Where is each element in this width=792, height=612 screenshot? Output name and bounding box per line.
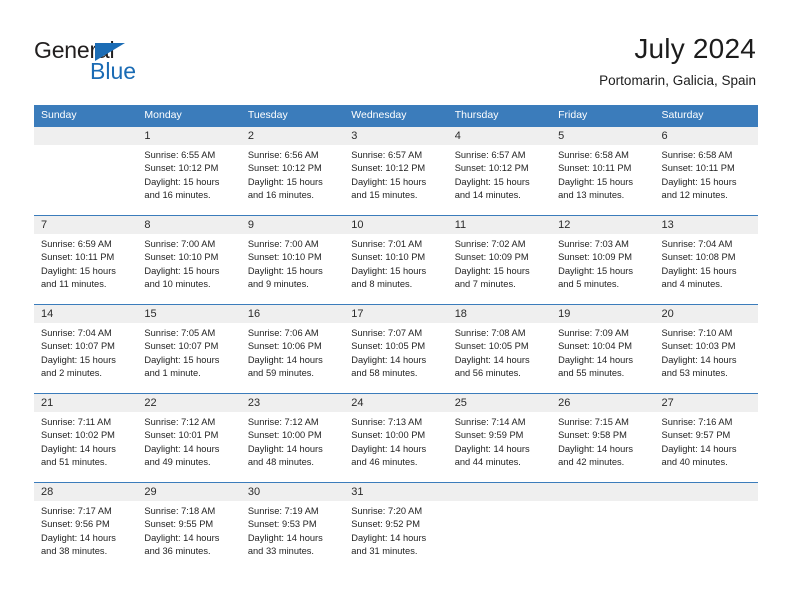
day-sunset: Sunset: 9:53 PM bbox=[248, 518, 339, 531]
page-header: General Blue July 2024 Portomarin, Galic… bbox=[0, 0, 792, 100]
day-daylight-line2: and 38 minutes. bbox=[41, 545, 132, 558]
day-number: 5 bbox=[551, 127, 654, 145]
day-sunrise: Sunrise: 7:12 AM bbox=[144, 416, 235, 429]
calendar-week-row: 21Sunrise: 7:11 AMSunset: 10:02 PMDaylig… bbox=[34, 394, 758, 483]
calendar-body: 1Sunrise: 6:55 AMSunset: 10:12 PMDayligh… bbox=[34, 127, 758, 572]
day-daylight-line1: Daylight: 15 hours bbox=[41, 354, 132, 367]
day-number: 12 bbox=[551, 216, 654, 234]
calendar-day-cell[interactable]: 21Sunrise: 7:11 AMSunset: 10:02 PMDaylig… bbox=[34, 394, 137, 483]
calendar-day-cell[interactable]: 23Sunrise: 7:12 AMSunset: 10:00 PMDaylig… bbox=[241, 394, 344, 483]
day-sunrise: Sunrise: 6:59 AM bbox=[41, 238, 132, 251]
day-number: 10 bbox=[344, 216, 447, 234]
day-daylight-line2: and 55 minutes. bbox=[558, 367, 649, 380]
day-number: 29 bbox=[137, 483, 240, 501]
day-sunrise: Sunrise: 6:58 AM bbox=[662, 149, 753, 162]
day-number: 4 bbox=[448, 127, 551, 145]
day-daylight-line1: Daylight: 14 hours bbox=[144, 443, 235, 456]
day-details: Sunrise: 6:58 AMSunset: 10:11 PMDaylight… bbox=[551, 145, 654, 202]
day-sunset: Sunset: 10:00 PM bbox=[351, 429, 442, 442]
day-details: Sunrise: 6:57 AMSunset: 10:12 PMDaylight… bbox=[448, 145, 551, 202]
day-details: Sunrise: 7:12 AMSunset: 10:01 PMDaylight… bbox=[137, 412, 240, 469]
day-sunrise: Sunrise: 6:55 AM bbox=[144, 149, 235, 162]
day-daylight-line2: and 14 minutes. bbox=[455, 189, 546, 202]
day-details: Sunrise: 7:14 AMSunset: 9:59 PMDaylight:… bbox=[448, 412, 551, 469]
day-details: Sunrise: 7:13 AMSunset: 10:00 PMDaylight… bbox=[344, 412, 447, 469]
day-sunset: Sunset: 10:05 PM bbox=[455, 340, 546, 353]
day-daylight-line2: and 13 minutes. bbox=[558, 189, 649, 202]
day-number: 21 bbox=[34, 394, 137, 412]
day-details: Sunrise: 7:15 AMSunset: 9:58 PMDaylight:… bbox=[551, 412, 654, 469]
day-number: 30 bbox=[241, 483, 344, 501]
calendar-day-cell[interactable]: 31Sunrise: 7:20 AMSunset: 9:52 PMDayligh… bbox=[344, 483, 447, 572]
day-daylight-line1: Daylight: 15 hours bbox=[558, 176, 649, 189]
day-sunrise: Sunrise: 7:08 AM bbox=[455, 327, 546, 340]
day-sunset: Sunset: 10:09 PM bbox=[558, 251, 649, 264]
calendar-day-cell[interactable]: 28Sunrise: 7:17 AMSunset: 9:56 PMDayligh… bbox=[34, 483, 137, 572]
calendar-day-cell[interactable]: 22Sunrise: 7:12 AMSunset: 10:01 PMDaylig… bbox=[137, 394, 240, 483]
day-sunset: Sunset: 10:12 PM bbox=[248, 162, 339, 175]
day-daylight-line2: and 9 minutes. bbox=[248, 278, 339, 291]
day-daylight-line2: and 11 minutes. bbox=[41, 278, 132, 291]
day-daylight-line2: and 44 minutes. bbox=[455, 456, 546, 469]
calendar-day-cell[interactable]: 18Sunrise: 7:08 AMSunset: 10:05 PMDaylig… bbox=[448, 305, 551, 394]
day-daylight-line1: Daylight: 14 hours bbox=[41, 443, 132, 456]
calendar-week-row: 28Sunrise: 7:17 AMSunset: 9:56 PMDayligh… bbox=[34, 483, 758, 572]
day-details: Sunrise: 7:04 AMSunset: 10:08 PMDaylight… bbox=[655, 234, 758, 291]
day-daylight-line1: Daylight: 14 hours bbox=[558, 354, 649, 367]
calendar-day-cell[interactable]: 3Sunrise: 6:57 AMSunset: 10:12 PMDayligh… bbox=[344, 127, 447, 216]
day-sunrise: Sunrise: 6:57 AM bbox=[351, 149, 442, 162]
calendar-day-cell[interactable]: 2Sunrise: 6:56 AMSunset: 10:12 PMDayligh… bbox=[241, 127, 344, 216]
day-daylight-line2: and 10 minutes. bbox=[144, 278, 235, 291]
calendar-day-cell[interactable]: 8Sunrise: 7:00 AMSunset: 10:10 PMDayligh… bbox=[137, 216, 240, 305]
day-sunrise: Sunrise: 7:04 AM bbox=[41, 327, 132, 340]
day-sunrise: Sunrise: 6:56 AM bbox=[248, 149, 339, 162]
day-daylight-line1: Daylight: 15 hours bbox=[455, 176, 546, 189]
day-number: 14 bbox=[34, 305, 137, 323]
day-daylight-line1: Daylight: 15 hours bbox=[351, 176, 442, 189]
day-daylight-line1: Daylight: 14 hours bbox=[248, 354, 339, 367]
day-daylight-line2: and 12 minutes. bbox=[662, 189, 753, 202]
day-daylight-line2: and 51 minutes. bbox=[41, 456, 132, 469]
calendar-day-cell-empty bbox=[551, 483, 654, 572]
calendar-day-cell[interactable]: 26Sunrise: 7:15 AMSunset: 9:58 PMDayligh… bbox=[551, 394, 654, 483]
day-details: Sunrise: 7:12 AMSunset: 10:00 PMDaylight… bbox=[241, 412, 344, 469]
day-number: 26 bbox=[551, 394, 654, 412]
day-daylight-line1: Daylight: 14 hours bbox=[248, 532, 339, 545]
day-details: Sunrise: 7:00 AMSunset: 10:10 PMDaylight… bbox=[241, 234, 344, 291]
day-sunset: Sunset: 10:11 PM bbox=[558, 162, 649, 175]
day-daylight-line2: and 7 minutes. bbox=[455, 278, 546, 291]
day-sunrise: Sunrise: 7:07 AM bbox=[351, 327, 442, 340]
day-daylight-line2: and 53 minutes. bbox=[662, 367, 753, 380]
day-sunset: Sunset: 10:04 PM bbox=[558, 340, 649, 353]
day-details: Sunrise: 6:55 AMSunset: 10:12 PMDaylight… bbox=[137, 145, 240, 202]
day-daylight-line2: and 42 minutes. bbox=[558, 456, 649, 469]
calendar-day-cell[interactable]: 1Sunrise: 6:55 AMSunset: 10:12 PMDayligh… bbox=[137, 127, 240, 216]
day-sunrise: Sunrise: 7:10 AM bbox=[662, 327, 753, 340]
day-daylight-line1: Daylight: 15 hours bbox=[248, 176, 339, 189]
day-number: 11 bbox=[448, 216, 551, 234]
weekday-header-friday: Friday bbox=[551, 105, 654, 127]
day-daylight-line1: Daylight: 15 hours bbox=[455, 265, 546, 278]
weekday-header-monday: Monday bbox=[137, 105, 240, 127]
day-details: Sunrise: 7:20 AMSunset: 9:52 PMDaylight:… bbox=[344, 501, 447, 558]
day-sunset: Sunset: 9:59 PM bbox=[455, 429, 546, 442]
day-sunrise: Sunrise: 7:00 AM bbox=[144, 238, 235, 251]
day-daylight-line2: and 46 minutes. bbox=[351, 456, 442, 469]
day-daylight-line2: and 16 minutes. bbox=[248, 189, 339, 202]
day-daylight-line2: and 2 minutes. bbox=[41, 367, 132, 380]
day-sunset: Sunset: 10:12 PM bbox=[455, 162, 546, 175]
day-sunrise: Sunrise: 7:02 AM bbox=[455, 238, 546, 251]
day-number: 31 bbox=[344, 483, 447, 501]
calendar-page: General Blue July 2024 Portomarin, Galic… bbox=[0, 0, 792, 612]
calendar-day-cell[interactable]: 25Sunrise: 7:14 AMSunset: 9:59 PMDayligh… bbox=[448, 394, 551, 483]
calendar-day-cell[interactable]: 10Sunrise: 7:01 AMSunset: 10:10 PMDaylig… bbox=[344, 216, 447, 305]
calendar-day-cell[interactable]: 9Sunrise: 7:00 AMSunset: 10:10 PMDayligh… bbox=[241, 216, 344, 305]
day-daylight-line1: Daylight: 15 hours bbox=[351, 265, 442, 278]
day-details: Sunrise: 6:56 AMSunset: 10:12 PMDaylight… bbox=[241, 145, 344, 202]
day-details: Sunrise: 6:57 AMSunset: 10:12 PMDaylight… bbox=[344, 145, 447, 202]
day-sunrise: Sunrise: 7:12 AM bbox=[248, 416, 339, 429]
day-daylight-line1: Daylight: 14 hours bbox=[662, 354, 753, 367]
calendar-week-row: 1Sunrise: 6:55 AMSunset: 10:12 PMDayligh… bbox=[34, 127, 758, 216]
calendar-day-cell[interactable]: 11Sunrise: 7:02 AMSunset: 10:09 PMDaylig… bbox=[448, 216, 551, 305]
day-daylight-line2: and 15 minutes. bbox=[351, 189, 442, 202]
calendar-day-cell-empty bbox=[655, 483, 758, 572]
day-daylight-line1: Daylight: 15 hours bbox=[41, 265, 132, 278]
day-number: 3 bbox=[344, 127, 447, 145]
day-daylight-line2: and 36 minutes. bbox=[144, 545, 235, 558]
calendar-day-cell[interactable]: 27Sunrise: 7:16 AMSunset: 9:57 PMDayligh… bbox=[655, 394, 758, 483]
day-sunset: Sunset: 10:02 PM bbox=[41, 429, 132, 442]
day-sunrise: Sunrise: 7:16 AM bbox=[662, 416, 753, 429]
day-sunset: Sunset: 10:12 PM bbox=[351, 162, 442, 175]
day-sunrise: Sunrise: 7:04 AM bbox=[662, 238, 753, 251]
general-blue-logo[interactable]: General Blue bbox=[34, 38, 164, 86]
page-subtitle: Portomarin, Galicia, Spain bbox=[599, 72, 756, 89]
day-daylight-line2: and 49 minutes. bbox=[144, 456, 235, 469]
day-sunrise: Sunrise: 7:14 AM bbox=[455, 416, 546, 429]
day-daylight-line1: Daylight: 15 hours bbox=[144, 176, 235, 189]
day-number: 2 bbox=[241, 127, 344, 145]
calendar-day-cell[interactable]: 15Sunrise: 7:05 AMSunset: 10:07 PMDaylig… bbox=[137, 305, 240, 394]
calendar-day-cell[interactable]: 24Sunrise: 7:13 AMSunset: 10:00 PMDaylig… bbox=[344, 394, 447, 483]
day-sunset: Sunset: 10:10 PM bbox=[248, 251, 339, 264]
day-sunrise: Sunrise: 7:00 AM bbox=[248, 238, 339, 251]
calendar-day-cell[interactable]: 17Sunrise: 7:07 AMSunset: 10:05 PMDaylig… bbox=[344, 305, 447, 394]
weekday-header-wednesday: Wednesday bbox=[344, 105, 447, 127]
day-number: 27 bbox=[655, 394, 758, 412]
day-sunrise: Sunrise: 7:05 AM bbox=[144, 327, 235, 340]
day-daylight-line1: Daylight: 15 hours bbox=[248, 265, 339, 278]
day-sunrise: Sunrise: 7:19 AM bbox=[248, 505, 339, 518]
day-number: 17 bbox=[344, 305, 447, 323]
day-sunrise: Sunrise: 7:17 AM bbox=[41, 505, 132, 518]
logo-text-blue: Blue bbox=[90, 59, 136, 83]
day-number: 22 bbox=[137, 394, 240, 412]
day-daylight-line2: and 5 minutes. bbox=[558, 278, 649, 291]
day-number: 18 bbox=[448, 305, 551, 323]
day-daylight-line2: and 4 minutes. bbox=[662, 278, 753, 291]
calendar-day-cell[interactable]: 20Sunrise: 7:10 AMSunset: 10:03 PMDaylig… bbox=[655, 305, 758, 394]
day-sunset: Sunset: 10:06 PM bbox=[248, 340, 339, 353]
day-sunset: Sunset: 10:12 PM bbox=[144, 162, 235, 175]
day-sunset: Sunset: 9:57 PM bbox=[662, 429, 753, 442]
day-details: Sunrise: 7:08 AMSunset: 10:05 PMDaylight… bbox=[448, 323, 551, 380]
day-daylight-line2: and 31 minutes. bbox=[351, 545, 442, 558]
calendar-day-cell[interactable]: 29Sunrise: 7:18 AMSunset: 9:55 PMDayligh… bbox=[137, 483, 240, 572]
title-block: July 2024 Portomarin, Galicia, Spain bbox=[599, 32, 756, 89]
day-sunset: Sunset: 9:56 PM bbox=[41, 518, 132, 531]
weekday-header-row: Sunday Monday Tuesday Wednesday Thursday… bbox=[34, 105, 758, 127]
day-details: Sunrise: 7:05 AMSunset: 10:07 PMDaylight… bbox=[137, 323, 240, 380]
calendar-day-cell[interactable]: 16Sunrise: 7:06 AMSunset: 10:06 PMDaylig… bbox=[241, 305, 344, 394]
day-sunrise: Sunrise: 7:18 AM bbox=[144, 505, 235, 518]
day-sunset: Sunset: 10:10 PM bbox=[144, 251, 235, 264]
day-number bbox=[34, 127, 137, 145]
day-daylight-line1: Daylight: 15 hours bbox=[144, 265, 235, 278]
day-daylight-line2: and 58 minutes. bbox=[351, 367, 442, 380]
calendar-day-cell[interactable]: 13Sunrise: 7:04 AMSunset: 10:08 PMDaylig… bbox=[655, 216, 758, 305]
day-details: Sunrise: 7:07 AMSunset: 10:05 PMDaylight… bbox=[344, 323, 447, 380]
day-daylight-line1: Daylight: 14 hours bbox=[144, 532, 235, 545]
day-sunset: Sunset: 10:03 PM bbox=[662, 340, 753, 353]
weekday-header-thursday: Thursday bbox=[448, 105, 551, 127]
day-sunrise: Sunrise: 6:58 AM bbox=[558, 149, 649, 162]
day-sunrise: Sunrise: 7:11 AM bbox=[41, 416, 132, 429]
day-daylight-line1: Daylight: 14 hours bbox=[351, 354, 442, 367]
page-title: July 2024 bbox=[599, 32, 756, 66]
day-number: 25 bbox=[448, 394, 551, 412]
day-number: 24 bbox=[344, 394, 447, 412]
day-sunset: Sunset: 10:07 PM bbox=[41, 340, 132, 353]
day-daylight-line1: Daylight: 14 hours bbox=[41, 532, 132, 545]
day-daylight-line2: and 59 minutes. bbox=[248, 367, 339, 380]
day-sunset: Sunset: 9:55 PM bbox=[144, 518, 235, 531]
day-daylight-line1: Daylight: 14 hours bbox=[248, 443, 339, 456]
day-number bbox=[551, 483, 654, 501]
day-daylight-line1: Daylight: 14 hours bbox=[455, 443, 546, 456]
day-daylight-line1: Daylight: 14 hours bbox=[455, 354, 546, 367]
day-number: 19 bbox=[551, 305, 654, 323]
calendar-day-cell[interactable]: 6Sunrise: 6:58 AMSunset: 10:11 PMDayligh… bbox=[655, 127, 758, 216]
day-number: 9 bbox=[241, 216, 344, 234]
day-sunrise: Sunrise: 7:03 AM bbox=[558, 238, 649, 251]
day-details: Sunrise: 7:16 AMSunset: 9:57 PMDaylight:… bbox=[655, 412, 758, 469]
calendar-week-row: 7Sunrise: 6:59 AMSunset: 10:11 PMDayligh… bbox=[34, 216, 758, 305]
calendar-table: Sunday Monday Tuesday Wednesday Thursday… bbox=[34, 105, 758, 572]
day-sunset: Sunset: 10:07 PM bbox=[144, 340, 235, 353]
day-number: 13 bbox=[655, 216, 758, 234]
calendar-week-row: 14Sunrise: 7:04 AMSunset: 10:07 PMDaylig… bbox=[34, 305, 758, 394]
day-number: 1 bbox=[137, 127, 240, 145]
calendar-day-cell[interactable]: 19Sunrise: 7:09 AMSunset: 10:04 PMDaylig… bbox=[551, 305, 654, 394]
day-number: 7 bbox=[34, 216, 137, 234]
calendar-day-cell-empty bbox=[448, 483, 551, 572]
calendar-day-cell[interactable]: 7Sunrise: 6:59 AMSunset: 10:11 PMDayligh… bbox=[34, 216, 137, 305]
calendar-day-cell-empty bbox=[34, 127, 137, 216]
calendar-day-cell[interactable]: 14Sunrise: 7:04 AMSunset: 10:07 PMDaylig… bbox=[34, 305, 137, 394]
day-daylight-line2: and 1 minute. bbox=[144, 367, 235, 380]
day-daylight-line2: and 48 minutes. bbox=[248, 456, 339, 469]
day-details: Sunrise: 7:03 AMSunset: 10:09 PMDaylight… bbox=[551, 234, 654, 291]
day-sunset: Sunset: 10:10 PM bbox=[351, 251, 442, 264]
day-sunset: Sunset: 10:09 PM bbox=[455, 251, 546, 264]
day-details: Sunrise: 7:19 AMSunset: 9:53 PMDaylight:… bbox=[241, 501, 344, 558]
day-sunset: Sunset: 10:08 PM bbox=[662, 251, 753, 264]
weekday-header-tuesday: Tuesday bbox=[241, 105, 344, 127]
day-number: 15 bbox=[137, 305, 240, 323]
day-number bbox=[448, 483, 551, 501]
day-daylight-line1: Daylight: 15 hours bbox=[144, 354, 235, 367]
day-daylight-line2: and 16 minutes. bbox=[144, 189, 235, 202]
day-sunset: Sunset: 9:58 PM bbox=[558, 429, 649, 442]
day-sunset: Sunset: 10:00 PM bbox=[248, 429, 339, 442]
day-sunrise: Sunrise: 7:20 AM bbox=[351, 505, 442, 518]
calendar-day-cell[interactable]: 30Sunrise: 7:19 AMSunset: 9:53 PMDayligh… bbox=[241, 483, 344, 572]
day-number: 6 bbox=[655, 127, 758, 145]
calendar-day-cell[interactable]: 12Sunrise: 7:03 AMSunset: 10:09 PMDaylig… bbox=[551, 216, 654, 305]
day-number: 23 bbox=[241, 394, 344, 412]
weekday-header-sunday: Sunday bbox=[34, 105, 137, 127]
day-daylight-line1: Daylight: 15 hours bbox=[662, 176, 753, 189]
day-details: Sunrise: 7:10 AMSunset: 10:03 PMDaylight… bbox=[655, 323, 758, 380]
day-daylight-line2: and 56 minutes. bbox=[455, 367, 546, 380]
day-number: 20 bbox=[655, 305, 758, 323]
day-details: Sunrise: 7:17 AMSunset: 9:56 PMDaylight:… bbox=[34, 501, 137, 558]
day-daylight-line1: Daylight: 14 hours bbox=[351, 443, 442, 456]
day-details: Sunrise: 7:04 AMSunset: 10:07 PMDaylight… bbox=[34, 323, 137, 380]
day-sunset: Sunset: 10:11 PM bbox=[662, 162, 753, 175]
day-daylight-line1: Daylight: 14 hours bbox=[662, 443, 753, 456]
day-daylight-line2: and 8 minutes. bbox=[351, 278, 442, 291]
day-sunrise: Sunrise: 7:15 AM bbox=[558, 416, 649, 429]
day-sunrise: Sunrise: 7:01 AM bbox=[351, 238, 442, 251]
day-daylight-line1: Daylight: 14 hours bbox=[558, 443, 649, 456]
day-sunset: Sunset: 10:11 PM bbox=[41, 251, 132, 264]
day-daylight-line2: and 33 minutes. bbox=[248, 545, 339, 558]
day-sunset: Sunset: 10:05 PM bbox=[351, 340, 442, 353]
calendar-head: Sunday Monday Tuesday Wednesday Thursday… bbox=[34, 105, 758, 127]
day-details: Sunrise: 7:02 AMSunset: 10:09 PMDaylight… bbox=[448, 234, 551, 291]
day-number: 28 bbox=[34, 483, 137, 501]
day-details: Sunrise: 7:09 AMSunset: 10:04 PMDaylight… bbox=[551, 323, 654, 380]
day-sunset: Sunset: 10:01 PM bbox=[144, 429, 235, 442]
day-details: Sunrise: 7:11 AMSunset: 10:02 PMDaylight… bbox=[34, 412, 137, 469]
day-sunset: Sunset: 9:52 PM bbox=[351, 518, 442, 531]
day-daylight-line1: Daylight: 15 hours bbox=[662, 265, 753, 278]
day-details: Sunrise: 6:58 AMSunset: 10:11 PMDaylight… bbox=[655, 145, 758, 202]
day-number: 16 bbox=[241, 305, 344, 323]
day-details: Sunrise: 7:01 AMSunset: 10:10 PMDaylight… bbox=[344, 234, 447, 291]
day-number: 8 bbox=[137, 216, 240, 234]
day-daylight-line1: Daylight: 15 hours bbox=[558, 265, 649, 278]
day-details: Sunrise: 6:59 AMSunset: 10:11 PMDaylight… bbox=[34, 234, 137, 291]
day-sunrise: Sunrise: 7:13 AM bbox=[351, 416, 442, 429]
day-details: Sunrise: 7:00 AMSunset: 10:10 PMDaylight… bbox=[137, 234, 240, 291]
calendar-day-cell[interactable]: 5Sunrise: 6:58 AMSunset: 10:11 PMDayligh… bbox=[551, 127, 654, 216]
day-sunrise: Sunrise: 7:06 AM bbox=[248, 327, 339, 340]
day-details: Sunrise: 7:18 AMSunset: 9:55 PMDaylight:… bbox=[137, 501, 240, 558]
day-sunrise: Sunrise: 6:57 AM bbox=[455, 149, 546, 162]
day-daylight-line2: and 40 minutes. bbox=[662, 456, 753, 469]
weekday-header-saturday: Saturday bbox=[655, 105, 758, 127]
day-number bbox=[655, 483, 758, 501]
day-sunrise: Sunrise: 7:09 AM bbox=[558, 327, 649, 340]
day-daylight-line1: Daylight: 14 hours bbox=[351, 532, 442, 545]
calendar-day-cell[interactable]: 4Sunrise: 6:57 AMSunset: 10:12 PMDayligh… bbox=[448, 127, 551, 216]
day-details: Sunrise: 7:06 AMSunset: 10:06 PMDaylight… bbox=[241, 323, 344, 380]
